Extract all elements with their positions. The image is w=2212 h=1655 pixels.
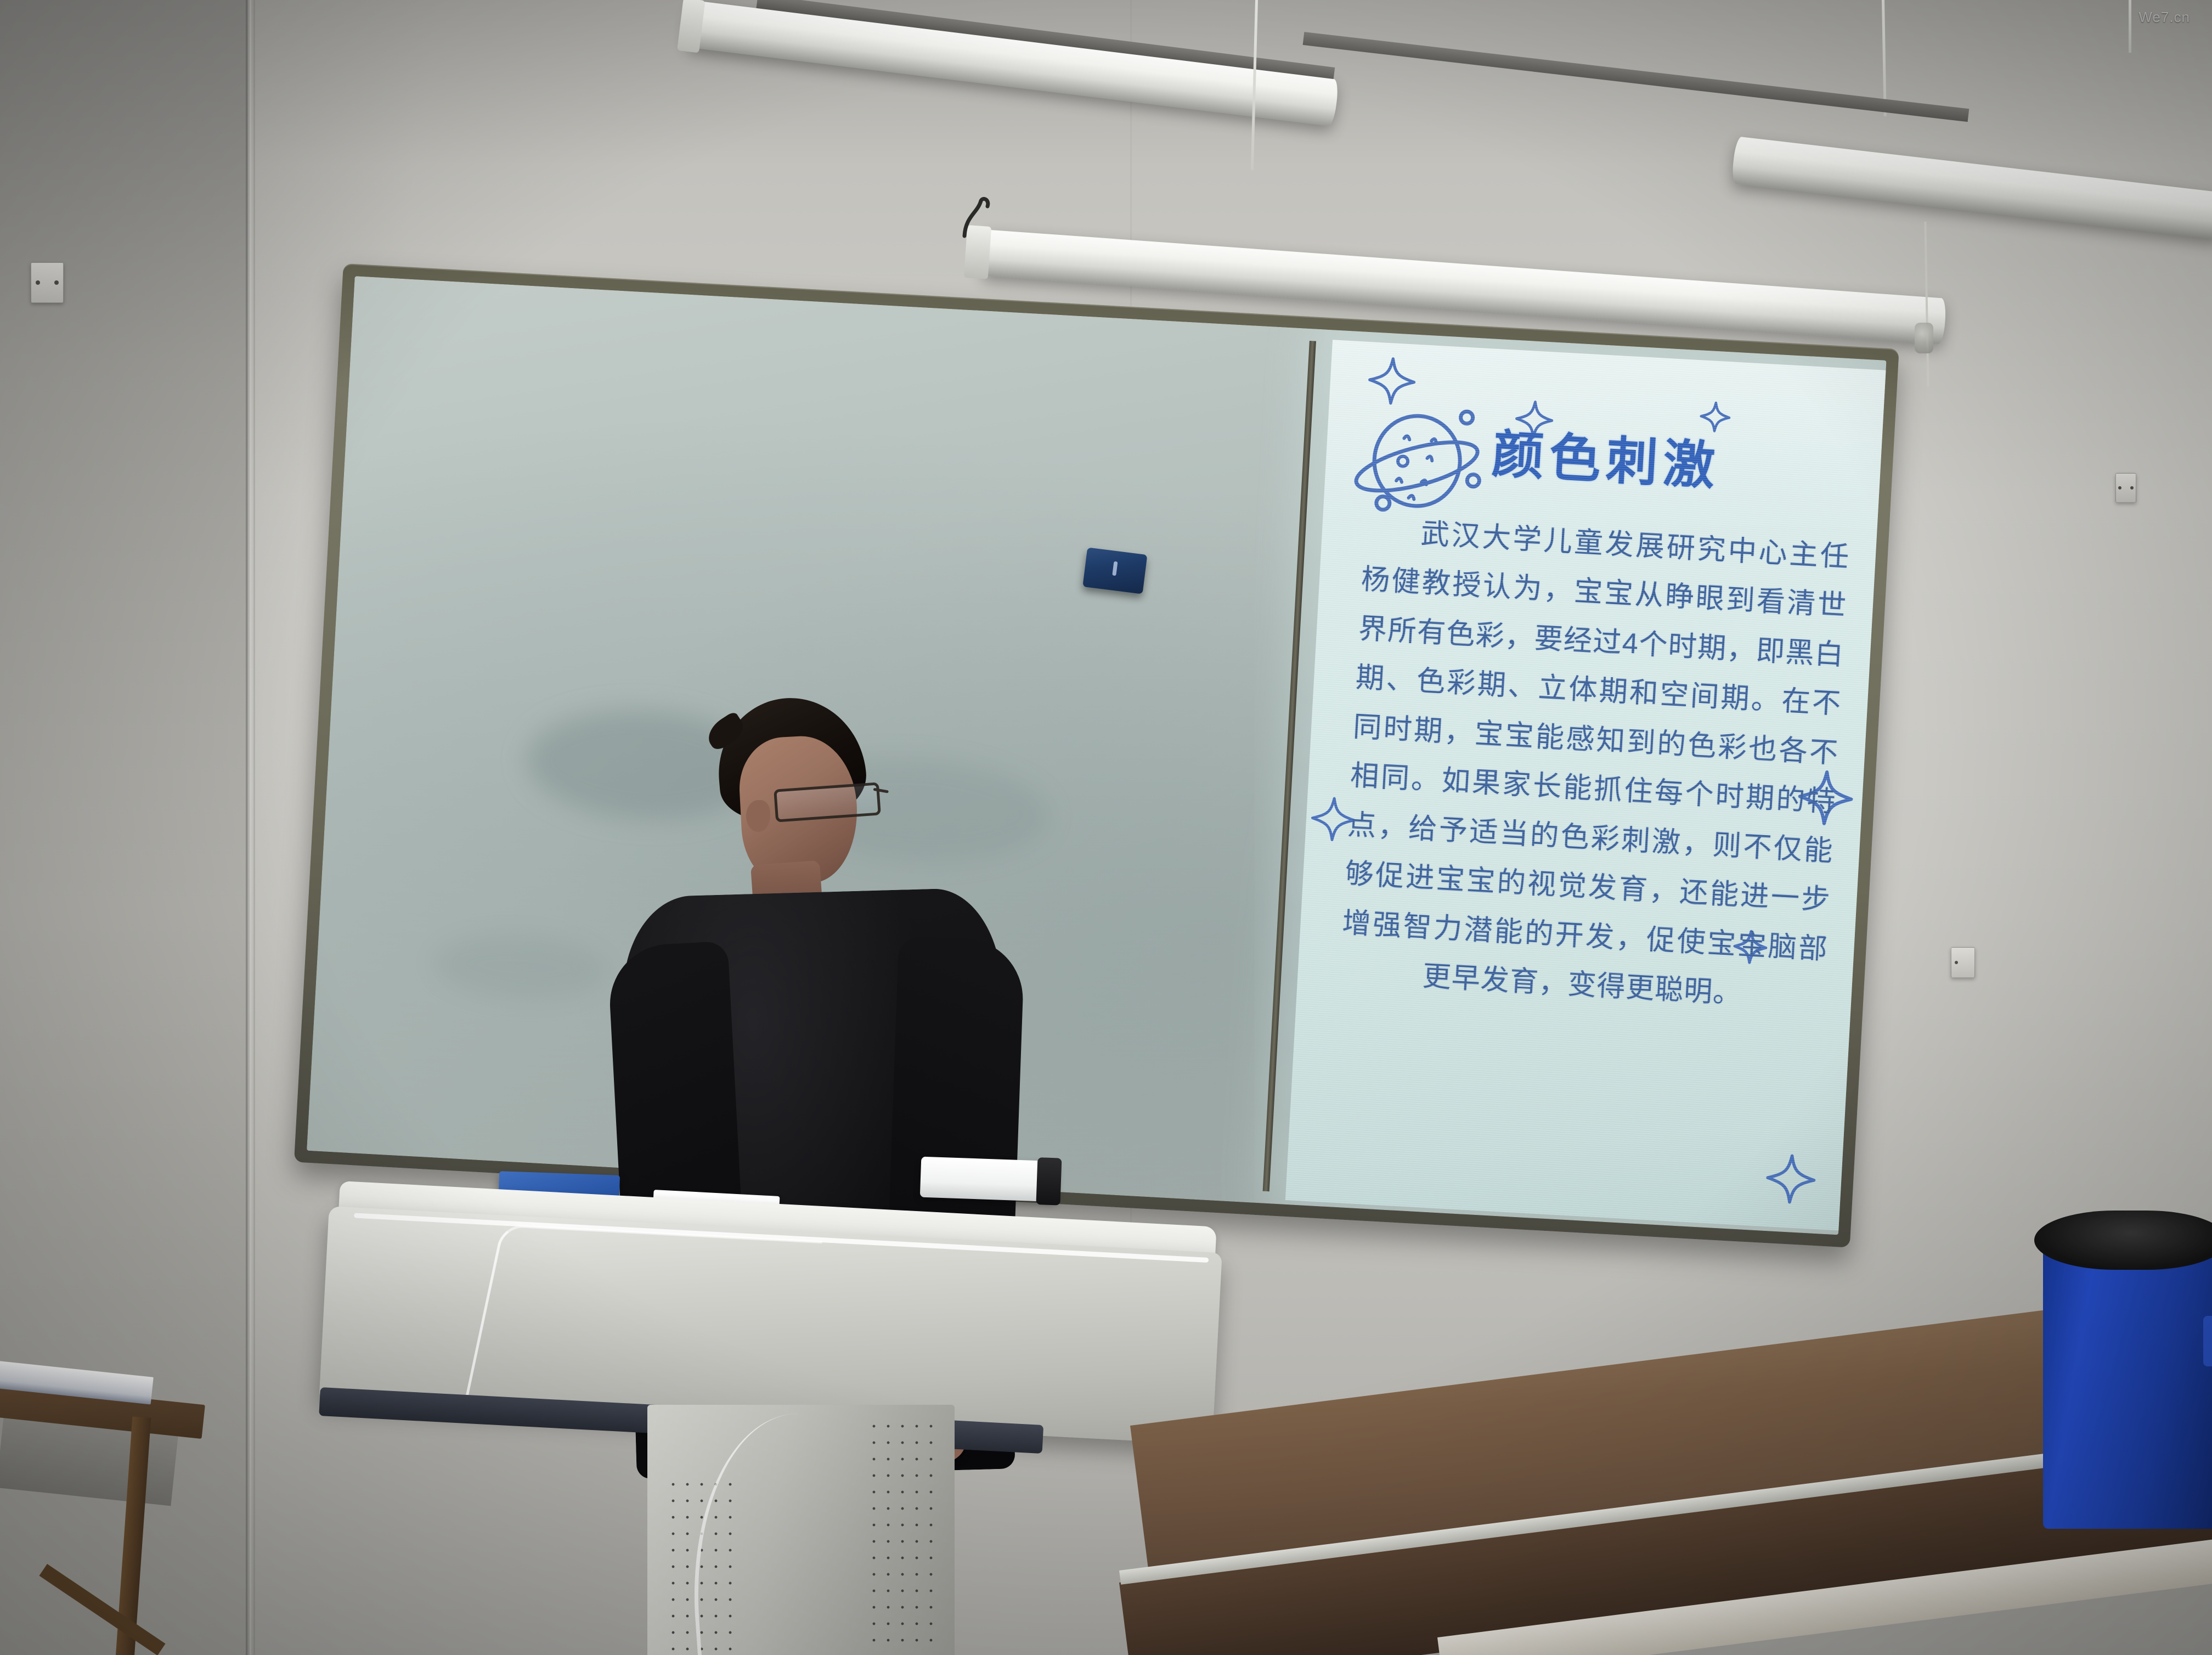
wall-switch-plate[interactable] bbox=[2115, 473, 2136, 503]
trash-bin-handle bbox=[2203, 1316, 2212, 1366]
whiteboard-surface: 颜色刺激 武汉大学儿童发展研究中心主任杨健教授认为，宝宝从睁眼到看清世界所有色彩… bbox=[307, 276, 1886, 1235]
slide-body-text: 武汉大学儿童发展研究中心主任杨健教授认为，宝宝从睁眼到看清世界所有色彩，要经过4… bbox=[1338, 506, 1850, 1023]
side-desk bbox=[0, 1383, 214, 1655]
presenter-ear bbox=[746, 800, 770, 832]
projected-slide: 颜色刺激 武汉大学儿童发展研究中心主任杨健教授认为，宝宝从睁眼到看清世界所有色彩… bbox=[1285, 340, 1887, 1231]
rolled-paper[interactable] bbox=[920, 1157, 1058, 1202]
wall-socket-plate[interactable] bbox=[1951, 947, 1975, 978]
wall-corner-edge bbox=[246, 0, 251, 1655]
wall-seam bbox=[253, 0, 255, 1655]
light-hanger-rod bbox=[2129, 0, 2131, 53]
whiteboard: 颜色刺激 武汉大学儿童发展研究中心主任杨健教授认为，宝宝从睁眼到看清世界所有色彩… bbox=[294, 263, 1899, 1248]
star-icon bbox=[1367, 354, 1418, 408]
lectern bbox=[307, 1147, 1262, 1655]
lectern-vent-holes bbox=[867, 1418, 933, 1648]
watermark: We7.cn bbox=[2138, 9, 2190, 26]
lectern-curve-accent bbox=[681, 1414, 870, 1655]
eyeglasses-icon bbox=[774, 782, 881, 822]
wall-switch-plate[interactable] bbox=[31, 262, 64, 303]
trash-bin-lid[interactable] bbox=[2034, 1211, 2212, 1270]
trash-bin-body bbox=[2043, 1243, 2212, 1529]
lectern-pillar bbox=[647, 1405, 955, 1655]
cable-bundle bbox=[1915, 323, 1933, 353]
classroom-photo: 颜色刺激 武汉大学儿童发展研究中心主任杨健教授认为，宝宝从睁眼到看清世界所有色彩… bbox=[0, 0, 2212, 1655]
light-hook-wire bbox=[959, 196, 1003, 240]
whiteboard-eraser[interactable] bbox=[1082, 548, 1147, 594]
trash-bin[interactable] bbox=[2043, 1201, 2212, 1563]
star-icon bbox=[1764, 1151, 1818, 1207]
side-desk-brace bbox=[39, 1564, 165, 1655]
